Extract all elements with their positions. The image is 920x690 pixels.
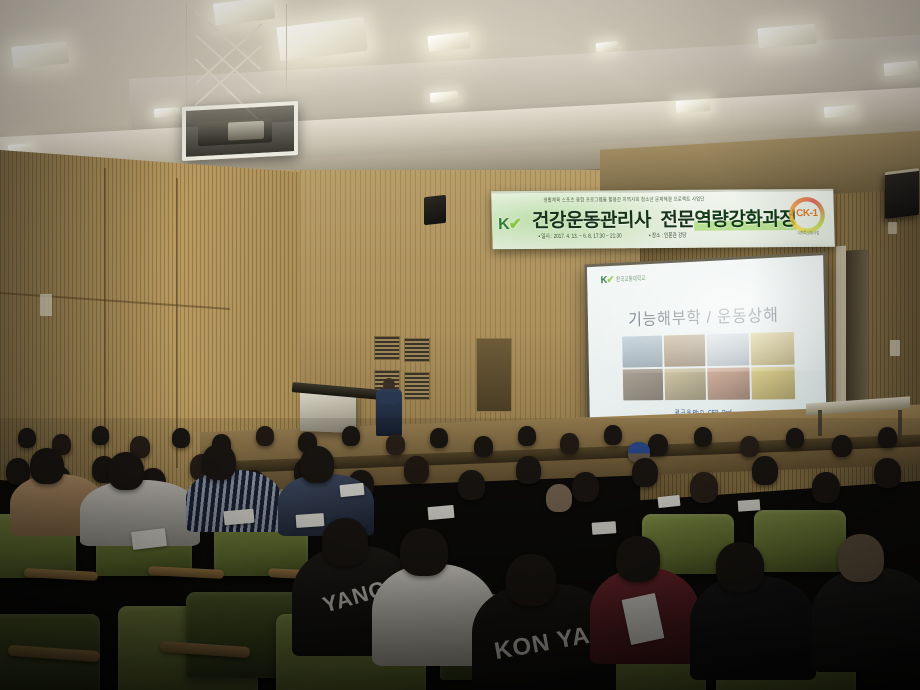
audience-head-light-hair [546,484,572,512]
ck1-logo-icon: CK-1 대학특성화사업 [786,196,829,240]
audience-torso [812,568,920,672]
ceiling-light [824,105,857,118]
audience-head [740,436,759,457]
audience-head [516,456,541,484]
audience-head [506,554,556,606]
note-paper [738,499,761,512]
wall-speaker-icon [424,195,446,225]
note-paper [339,483,364,497]
audience-head [342,426,360,446]
audience-head [518,426,536,446]
banner-title-part3: 역량강화과정 [694,209,796,231]
audience-head [300,446,334,483]
auditorium-seat[interactable] [754,510,846,572]
banner-title: 건강운동관리사 전문역량강화과정 [532,204,797,233]
banner-place-value: 인문관 강당 [664,232,687,239]
audience-head [648,434,668,456]
collage-photo [707,367,750,400]
wall-vent-grille [374,336,400,360]
seat-armrest [24,568,98,581]
audience-head [752,456,778,485]
ceiling-light [430,91,459,103]
note-paper [223,509,254,526]
audience-head [386,434,405,455]
wall-vent-grille [404,338,430,362]
ck1-logo-caption: 대학특성화사업 [787,229,829,236]
ceiling-light [154,107,181,118]
note-paper [296,513,325,528]
wall-speaker-icon [885,168,919,219]
audience-head [18,428,36,448]
audience-head [878,427,897,448]
wall-mounted-plate [40,294,52,316]
collage-photo [751,367,795,400]
audience-head [202,444,236,480]
scissor-lift-mechanism [196,10,284,106]
banner-date-value: 2017. 4. 13. ~ 6. 8, 17:30 ~ 21:30 [554,232,622,239]
audience-area: YANG KON YA [0,418,920,690]
audience-head [616,536,660,582]
audience-head [474,436,493,457]
projector-unit [228,121,264,141]
collage-photo [664,368,706,400]
projector-lift-cage [182,101,298,161]
ceiling-light [676,99,711,113]
audience-head [632,458,658,487]
note-paper [592,521,617,535]
audience-head [172,428,190,448]
ck1-logo-text: CK-1 [787,208,827,219]
event-banner: K✔ 생활체육 스포츠 융합 프로그램을 활용한 지역사회 청소년 문제해결 프… [491,189,835,249]
audience-torso [690,576,816,680]
screen-glare [587,255,827,374]
audience-head [108,452,144,490]
audience-head [322,518,368,566]
audience-head [832,435,852,457]
knut-logo-icon: K✔ [498,214,522,234]
light-switch-plate[interactable] [890,340,900,356]
lecture-hall-photo: K✔ 생활체육 스포츠 융합 프로그램을 활용한 지역사회 청소년 문제해결 프… [0,0,920,690]
audience-head [92,426,109,445]
audience-head [458,470,485,500]
audience-head [874,458,901,488]
audience-head [430,428,448,448]
presenter-arm [378,392,400,404]
lift-wire [286,4,287,108]
banner-title-part1: 건강운동관리사 [532,210,651,232]
banner-title-part2: 전문 [660,210,695,231]
ceiling-light [11,41,69,69]
stage-side-door[interactable] [476,338,512,412]
banner-meta: ▪ 일시 : 2017. 4. 13. ~ 6. 8, 17:30 ~ 21:3… [538,231,818,241]
audience-head [786,428,804,448]
audience-head [560,433,579,454]
wall-vent-grille [404,372,430,400]
ceiling-light [276,17,367,61]
lift-wire [186,4,187,108]
audience-head [716,542,764,592]
note-paper [427,505,454,520]
audience-head [30,448,64,484]
audience-head-glasses [400,528,448,576]
audience-head [572,472,599,502]
seat-armrest [148,566,224,579]
note-paper [657,495,680,508]
audience-head [690,472,718,503]
collage-photo [623,369,664,401]
audience-head [604,425,622,445]
wall-sensor [888,222,897,234]
audience-head-light-hair [838,534,884,582]
banner-place-label: 장소 [652,232,661,239]
ceiling-light [427,32,470,52]
audience-head [256,426,274,446]
audience-head [404,456,429,484]
audience-head [812,472,840,503]
audience-head [694,427,712,447]
banner-subtitle: 생활체육 스포츠 융합 프로그램을 활용한 지역사회 청소년 문제해결 프로젝트… [543,195,793,204]
banner-date-label: 일시 [541,233,550,240]
